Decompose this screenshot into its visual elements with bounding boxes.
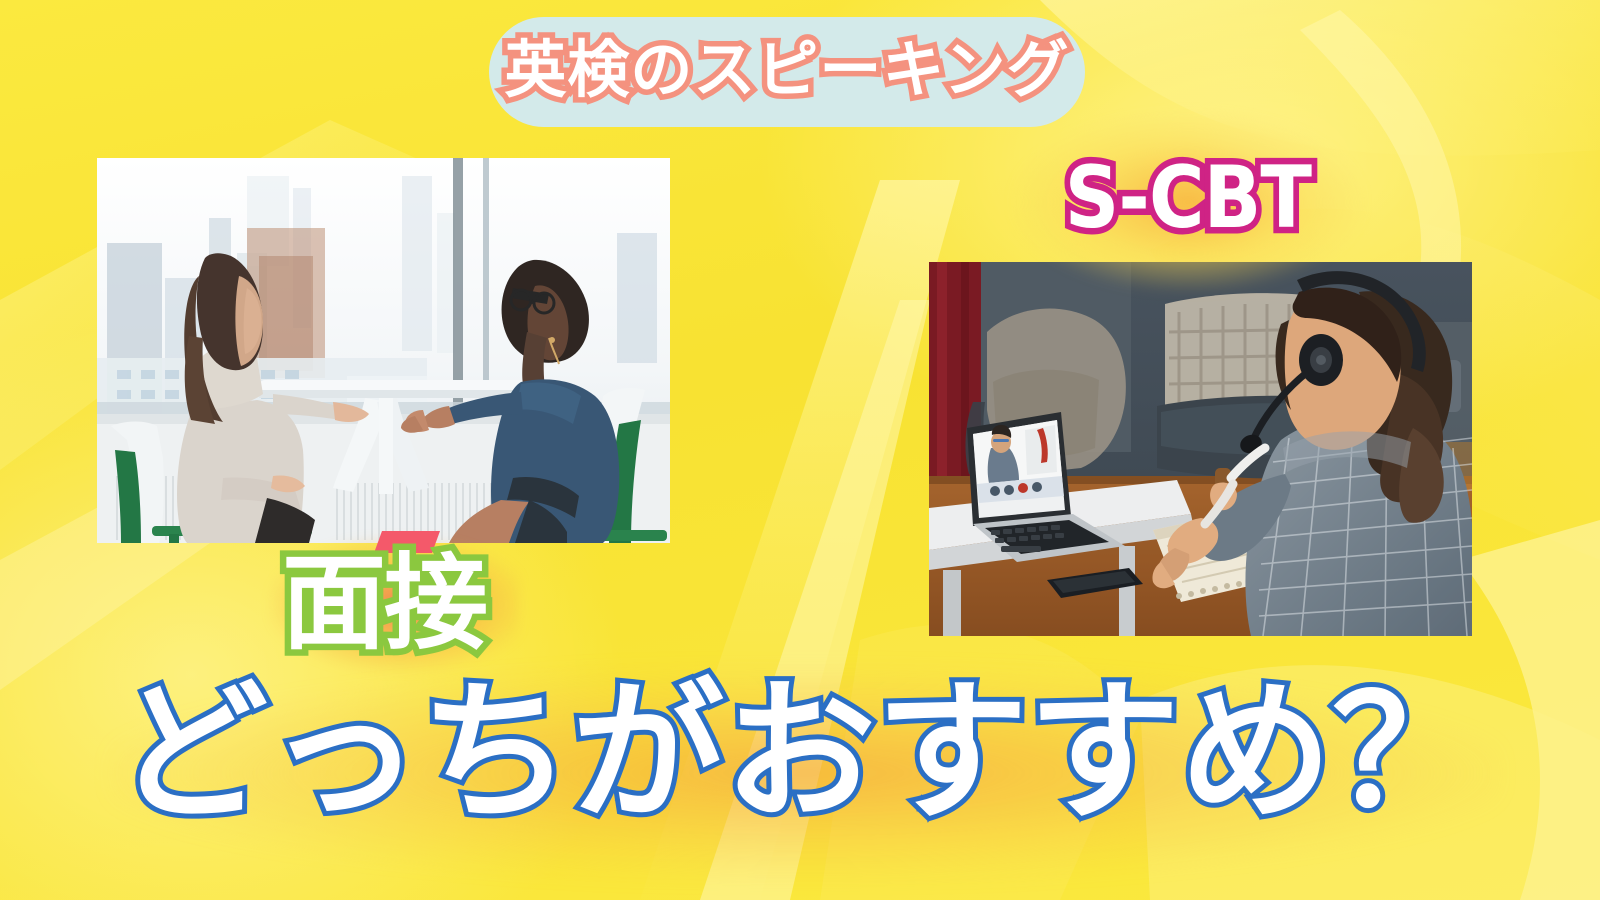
interview-photo: [97, 158, 670, 543]
headline-label: どっちがおすすめ？: [0, 660, 1600, 845]
scbt-label: S-CBT: [1065, 155, 1311, 241]
speaking-banner-pill: 英検のスピーキング: [489, 17, 1085, 127]
scbt-badge: S-CBT: [1053, 146, 1323, 250]
mensetsu-label: 面接: [282, 547, 486, 659]
mensetsu-badge: 面接: [270, 543, 520, 668]
poster-canvas: 英検のスピーキング S-CBT 面接 どっちがおすすめ？: [0, 0, 1600, 900]
speaking-banner-label: 英検のスピーキング: [504, 39, 1069, 101]
online-test-photo: [929, 262, 1472, 636]
headline: どっちがおすすめ？: [0, 660, 1600, 890]
